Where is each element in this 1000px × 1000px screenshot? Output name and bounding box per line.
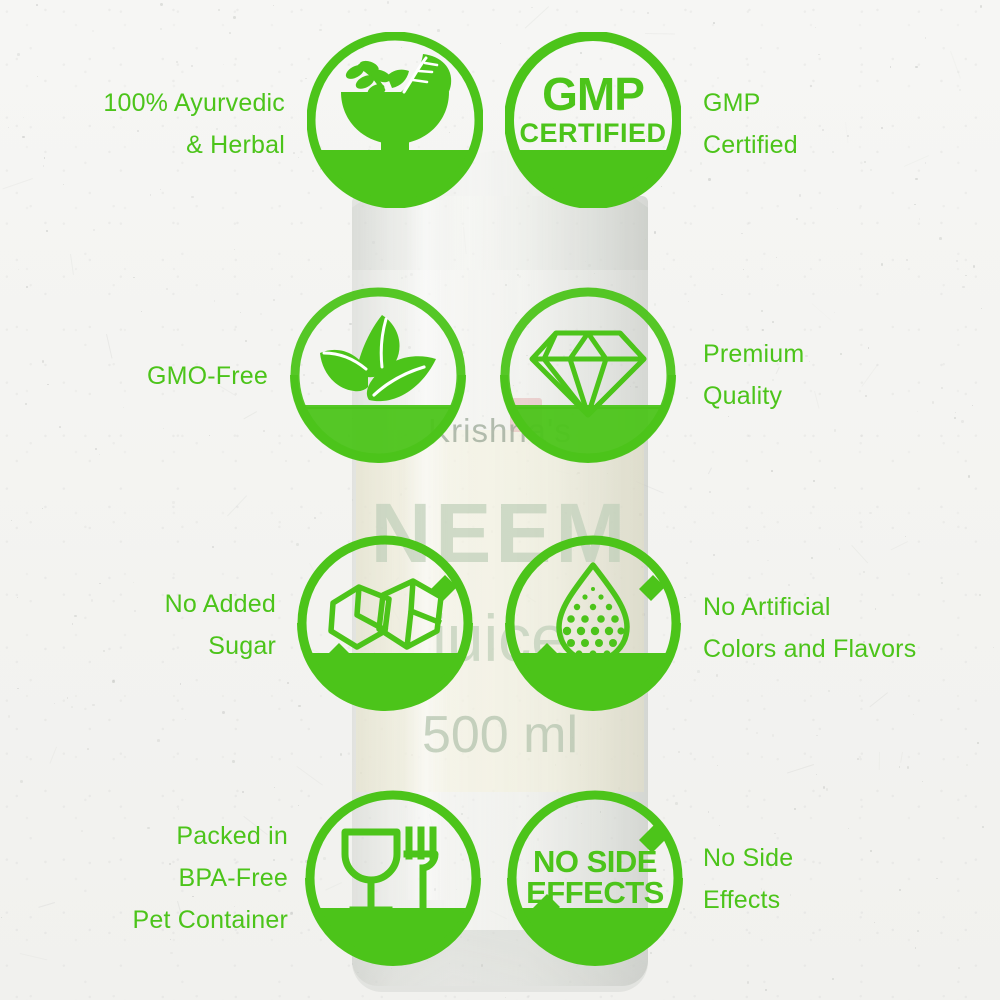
gmp-badge-top-text: GMP <box>542 68 644 120</box>
label-gmp-certified: GMP Certified <box>703 82 993 166</box>
label-bpa-free-pet-container: Packed in BPA-Free Pet Container <box>10 815 288 941</box>
badge-ayurvedic-herbal[interactable] <box>307 32 483 208</box>
no-side-effects-bottom-text: EFFECTS <box>526 875 664 910</box>
mortar-pestle-herbs-icon <box>341 54 451 157</box>
label-no-side-effects: No Side Effects <box>703 837 993 921</box>
badge-premium-quality[interactable] <box>500 287 676 463</box>
badge-gmo-free[interactable] <box>290 287 466 463</box>
feature-badge-grid: GMP CERTIFIED <box>0 0 1000 1000</box>
label-gmo-free: GMO-Free <box>20 355 268 397</box>
leaves-icon <box>320 315 436 401</box>
gmp-certified-icon: GMP CERTIFIED <box>519 68 666 148</box>
no-side-effects-icon: NO SIDE EFFECTS <box>526 844 664 910</box>
glass-and-fork-food-safe-icon <box>345 830 435 910</box>
gmp-badge-bottom-text: CERTIFIED <box>519 118 666 148</box>
droplet-dotted-icon <box>559 565 627 661</box>
label-no-artificial-colors-flavors: No Artificial Colors and Flavors <box>703 586 998 670</box>
badge-no-added-sugar[interactable] <box>297 535 473 711</box>
diamond-icon <box>532 333 644 415</box>
badge-no-artificial-colors-flavors[interactable] <box>505 535 681 711</box>
no-side-effects-top-text: NO SIDE <box>533 844 657 879</box>
sugar-cubes-icon <box>331 581 441 647</box>
badge-gmp-certified[interactable]: GMP CERTIFIED <box>505 32 681 208</box>
badge-bpa-free-pet-container[interactable] <box>305 790 481 966</box>
label-no-added-sugar: No Added Sugar <box>20 583 276 667</box>
badge-no-side-effects[interactable]: NO SIDE EFFECTS <box>507 790 683 966</box>
label-ayurvedic-herbal: 100% Ayurvedic & Herbal <box>20 82 285 166</box>
label-premium-quality: Premium Quality <box>703 333 993 417</box>
